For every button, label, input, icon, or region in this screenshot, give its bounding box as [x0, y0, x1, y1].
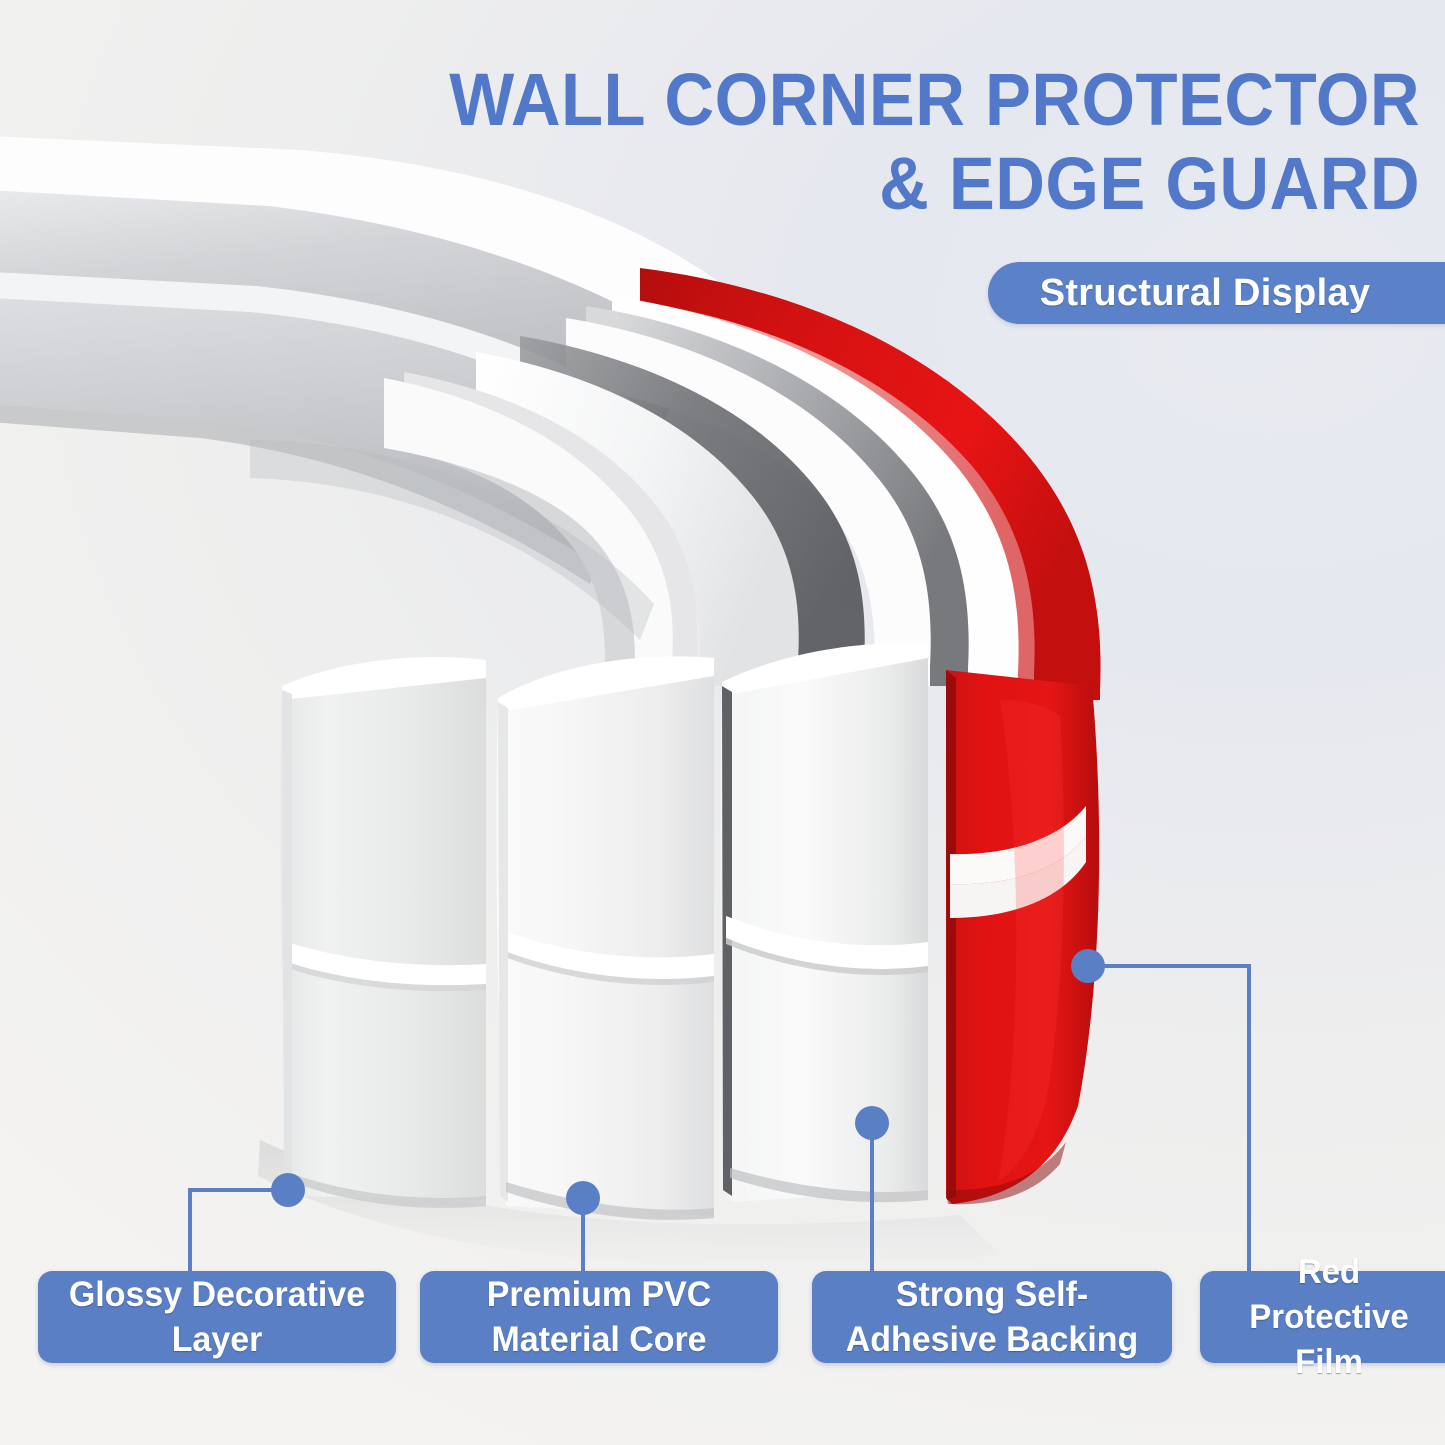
callout-label: Red Protective Film: [1214, 1250, 1445, 1385]
connector-line-red-film: [1088, 966, 1249, 1271]
callout-label: Glossy Decorative Layer: [53, 1272, 381, 1362]
connector-dot-glossy: [271, 1173, 305, 1207]
connector-dot-red-film: [1071, 949, 1105, 983]
layer-strip-premium-pvc: [496, 656, 714, 1220]
layer-strip-self-adhesive: [720, 643, 928, 1202]
callout-strong-self-adhesive-backing: Strong Self-Adhesive Backing: [812, 1271, 1172, 1363]
product-illustration: [0, 0, 1445, 1445]
connector-dot-pvc: [566, 1181, 600, 1215]
structural-display-badge-label: Structural Display: [1040, 272, 1407, 315]
connector-dot-adhesive: [855, 1106, 889, 1140]
callout-label: Strong Self-Adhesive Backing: [827, 1272, 1157, 1362]
connector-line-glossy: [190, 1190, 288, 1271]
callout-label: Premium PVC Material Core: [435, 1272, 763, 1362]
callout-premium-pvc-material-core: Premium PVC Material Core: [420, 1271, 778, 1363]
structural-display-badge: Structural Display: [988, 262, 1445, 324]
callout-glossy-decorative-layer: Glossy Decorative Layer: [38, 1271, 396, 1363]
infographic-canvas: WALL CORNER PROTECTOR & EDGE GUARD Struc…: [0, 0, 1445, 1445]
callout-red-protective-film: Red Protective Film: [1200, 1271, 1445, 1363]
layer-strip-red-film: [946, 670, 1099, 1204]
layer-strip-glossy-decorative: [280, 657, 486, 1208]
layer-strips: [258, 643, 1099, 1267]
